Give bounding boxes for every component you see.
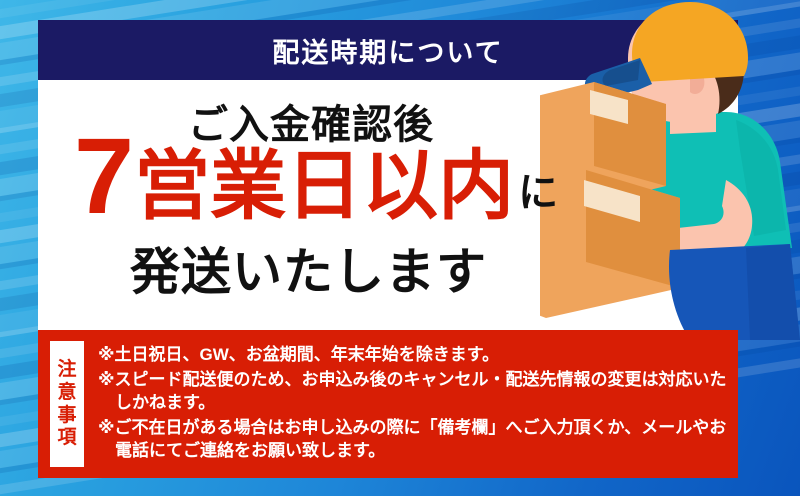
notice-item: ※ご不在日がある場合はお申し込みの際に「備考欄」へご入力頂くか、メールやお電話に… bbox=[98, 417, 728, 463]
notice-list: ※土日祝日、GW、お盆期間、年末年始を除きます。※スピード配送便のため、お申込み… bbox=[84, 330, 738, 478]
notice-label-char-1: 意 bbox=[57, 382, 76, 404]
notice-label-char-0: 注 bbox=[57, 359, 76, 381]
notice-item: ※土日祝日、GW、お盆期間、年末年始を除きます。 bbox=[98, 344, 728, 367]
main-message: ご入金確認後 7 営業日以内 に 発送いたします bbox=[38, 80, 598, 320]
headline-number: 7 bbox=[74, 130, 132, 223]
pants-shade bbox=[746, 244, 800, 340]
stripe bbox=[0, 0, 800, 8]
notice-label-char-2: 事 bbox=[57, 405, 76, 427]
notice-marker-icon: ※ bbox=[98, 345, 115, 364]
headline-particle: に bbox=[518, 163, 558, 223]
notice-panel: 注意事項 ※土日祝日、GW、お盆期間、年末年始を除きます。※スピード配送便のため… bbox=[38, 330, 738, 478]
headline-main-line: 7 営業日以内 に bbox=[74, 130, 558, 223]
shipping-notice-banner: 配送時期について bbox=[0, 0, 800, 496]
shirt-shade bbox=[736, 120, 786, 236]
stripe bbox=[0, 0, 800, 13]
title-bar: 配送時期について bbox=[38, 20, 738, 80]
notice-item: ※スピード配送便のため、お申込み後のキャンセル・配送先情報の変更は対応いたしかね… bbox=[98, 369, 728, 415]
headline-bottom: 発送いたします bbox=[130, 232, 487, 304]
notice-marker-icon: ※ bbox=[98, 418, 115, 437]
notice-label-char-3: 項 bbox=[57, 427, 76, 449]
page-title: 配送時期について bbox=[272, 31, 503, 70]
notice-marker-icon: ※ bbox=[98, 370, 115, 389]
notice-label-vertical: 注意事項 bbox=[50, 341, 84, 467]
headline-red-text: 営業日以内 bbox=[134, 151, 514, 223]
